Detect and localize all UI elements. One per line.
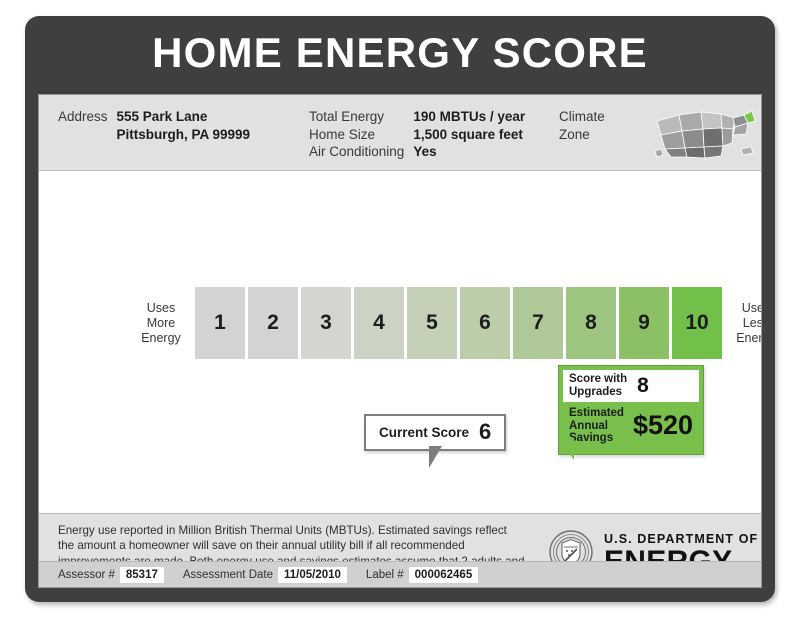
score-box-10: 10 xyxy=(672,287,722,359)
current-score-label: Current Score xyxy=(379,425,469,440)
meta-item-0: Assessor #85317 xyxy=(58,567,164,583)
upgrade-callout-pointer xyxy=(559,438,574,460)
home-energy-score-label: HOME ENERGY SCORE Address 555 Park Lane … xyxy=(25,16,775,602)
score-with-upgrades-row: Score with Upgrades 8 xyxy=(563,370,699,402)
total-energy-value: 190 MBTUs / year xyxy=(413,108,525,126)
climate-zone-group: Climate Zone xyxy=(559,108,761,168)
meta-label-0: Assessor # xyxy=(58,569,115,581)
home-size-value: 1,500 square feet xyxy=(413,126,525,144)
meta-item-1: Assessment Date11/05/2010 xyxy=(183,567,347,583)
estimated-savings-row: Estimated Annual Savings $520 xyxy=(563,402,699,450)
title-bar: HOME ENERGY SCORE xyxy=(25,16,775,90)
estimated-savings-value: $520 xyxy=(633,412,693,439)
score-with-upgrades-label: Score with Upgrades xyxy=(569,373,627,398)
meta-label-1: Assessment Date xyxy=(183,569,273,581)
uses-more-energy-label: Uses More Energy xyxy=(134,301,188,346)
air-conditioning-value: Yes xyxy=(413,143,525,161)
score-scale: Uses More Energy 12345678910 Uses Less E… xyxy=(134,287,762,359)
energy-labels: Total Energy Home Size Air Conditioning xyxy=(309,108,404,161)
uses-less-energy-label: Uses Less Energy xyxy=(729,301,762,346)
score-box-3: 3 xyxy=(301,287,351,359)
meta-value-2: 000062465 xyxy=(409,567,479,583)
upgrade-callout: Score with Upgrades 8 Estimated Annual S… xyxy=(558,365,704,455)
meta-value-0: 85317 xyxy=(120,567,164,583)
home-size-label: Home Size xyxy=(309,126,404,144)
total-energy-label: Total Energy xyxy=(309,108,404,126)
score-box-8: 8 xyxy=(566,287,616,359)
current-score-pointer xyxy=(429,446,442,468)
score-box-9: 9 xyxy=(619,287,669,359)
address-line-1: 555 Park Lane xyxy=(117,108,251,126)
score-box-2: 2 xyxy=(248,287,298,359)
climate-zone-label: Climate Zone xyxy=(559,108,639,143)
score-box-1: 1 xyxy=(195,287,245,359)
address-label: Address xyxy=(58,108,108,143)
estimated-savings-label: Estimated Annual Savings xyxy=(569,407,624,445)
score-box-4: 4 xyxy=(354,287,404,359)
current-score-value: 6 xyxy=(479,421,491,443)
meta-bar: Assessor #85317Assessment Date11/05/2010… xyxy=(39,561,761,587)
score-with-upgrades-value: 8 xyxy=(637,375,649,396)
energy-details-group: Total Energy Home Size Air Conditioning … xyxy=(309,108,525,161)
score-box-5: 5 xyxy=(407,287,457,359)
meta-item-2: Label #000062465 xyxy=(366,567,478,583)
energy-values: 190 MBTUs / year 1,500 square feet Yes xyxy=(413,108,525,161)
address-value: 555 Park Lane Pittsburgh, PA 99999 xyxy=(117,108,251,143)
score-box-row: 12345678910 xyxy=(195,287,722,359)
us-map-icon xyxy=(649,105,761,168)
label-sheet: Address 555 Park Lane Pittsburgh, PA 999… xyxy=(38,94,762,588)
meta-label-2: Label # xyxy=(366,569,404,581)
info-band: Address 555 Park Lane Pittsburgh, PA 999… xyxy=(39,95,761,171)
meta-value-1: 11/05/2010 xyxy=(278,567,347,583)
score-chart-area: Current Score 6 Score with Upgrades 8 Es… xyxy=(39,171,761,513)
score-box-6: 6 xyxy=(460,287,510,359)
address-group: Address 555 Park Lane Pittsburgh, PA 999… xyxy=(58,108,250,143)
address-line-2: Pittsburgh, PA 99999 xyxy=(117,126,251,144)
doe-department-text: U.S. DEPARTMENT OF xyxy=(604,532,758,546)
page-title: HOME ENERGY SCORE xyxy=(152,32,648,74)
air-conditioning-label: Air Conditioning xyxy=(309,143,404,161)
score-box-7: 7 xyxy=(513,287,563,359)
